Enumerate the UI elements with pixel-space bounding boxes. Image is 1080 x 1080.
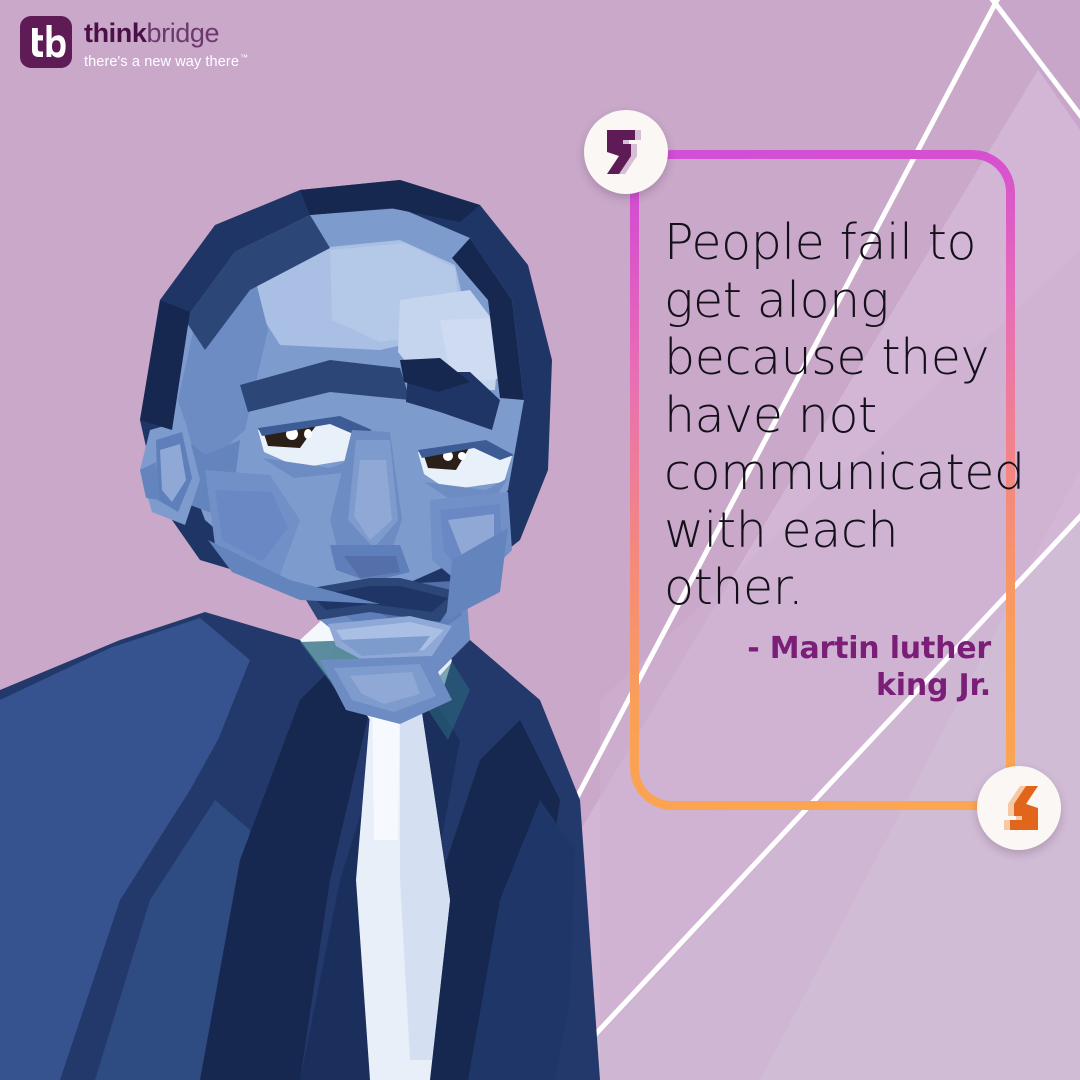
close-quote-icon [996, 784, 1042, 832]
quote-content: People fail to get along because they ha… [664, 214, 999, 705]
quote-card-canvas: thinkbridge there's a new way there™ [0, 0, 1080, 1080]
logo-tagline-text: there's a new way there [84, 54, 239, 70]
open-quote-badge [584, 110, 668, 194]
logo-name-light: bridge [147, 18, 220, 48]
attribution-line: king Jr. [664, 668, 991, 705]
attribution-line: - Martin luther [664, 631, 991, 668]
logo-tagline: there's a new way there™ [84, 54, 248, 69]
quote-line: with each [664, 502, 999, 560]
trademark-icon: ™ [240, 53, 248, 62]
logo-name-bold: think [84, 18, 147, 48]
quote-line: because they [664, 329, 999, 387]
quote-line: other. [664, 559, 999, 617]
quote-line: communicated [664, 444, 999, 502]
quote-line: People fail to [664, 214, 999, 272]
close-quote-badge [977, 766, 1061, 850]
quote-line: have not [664, 387, 999, 445]
logo-mark-tb [20, 16, 72, 68]
quote-text: People fail to get along because they ha… [664, 214, 999, 617]
brand-logo[interactable]: thinkbridge there's a new way there™ [20, 16, 248, 69]
quote-card: People fail to get along because they ha… [630, 150, 1015, 810]
tb-monogram-icon [20, 16, 72, 68]
quote-attribution: - Martin luther king Jr. [664, 631, 999, 705]
logo-wordmark: thinkbridge there's a new way there™ [84, 16, 248, 69]
open-quote-icon [603, 128, 649, 176]
quote-line: get along [664, 272, 999, 330]
logo-name: thinkbridge [84, 20, 248, 47]
